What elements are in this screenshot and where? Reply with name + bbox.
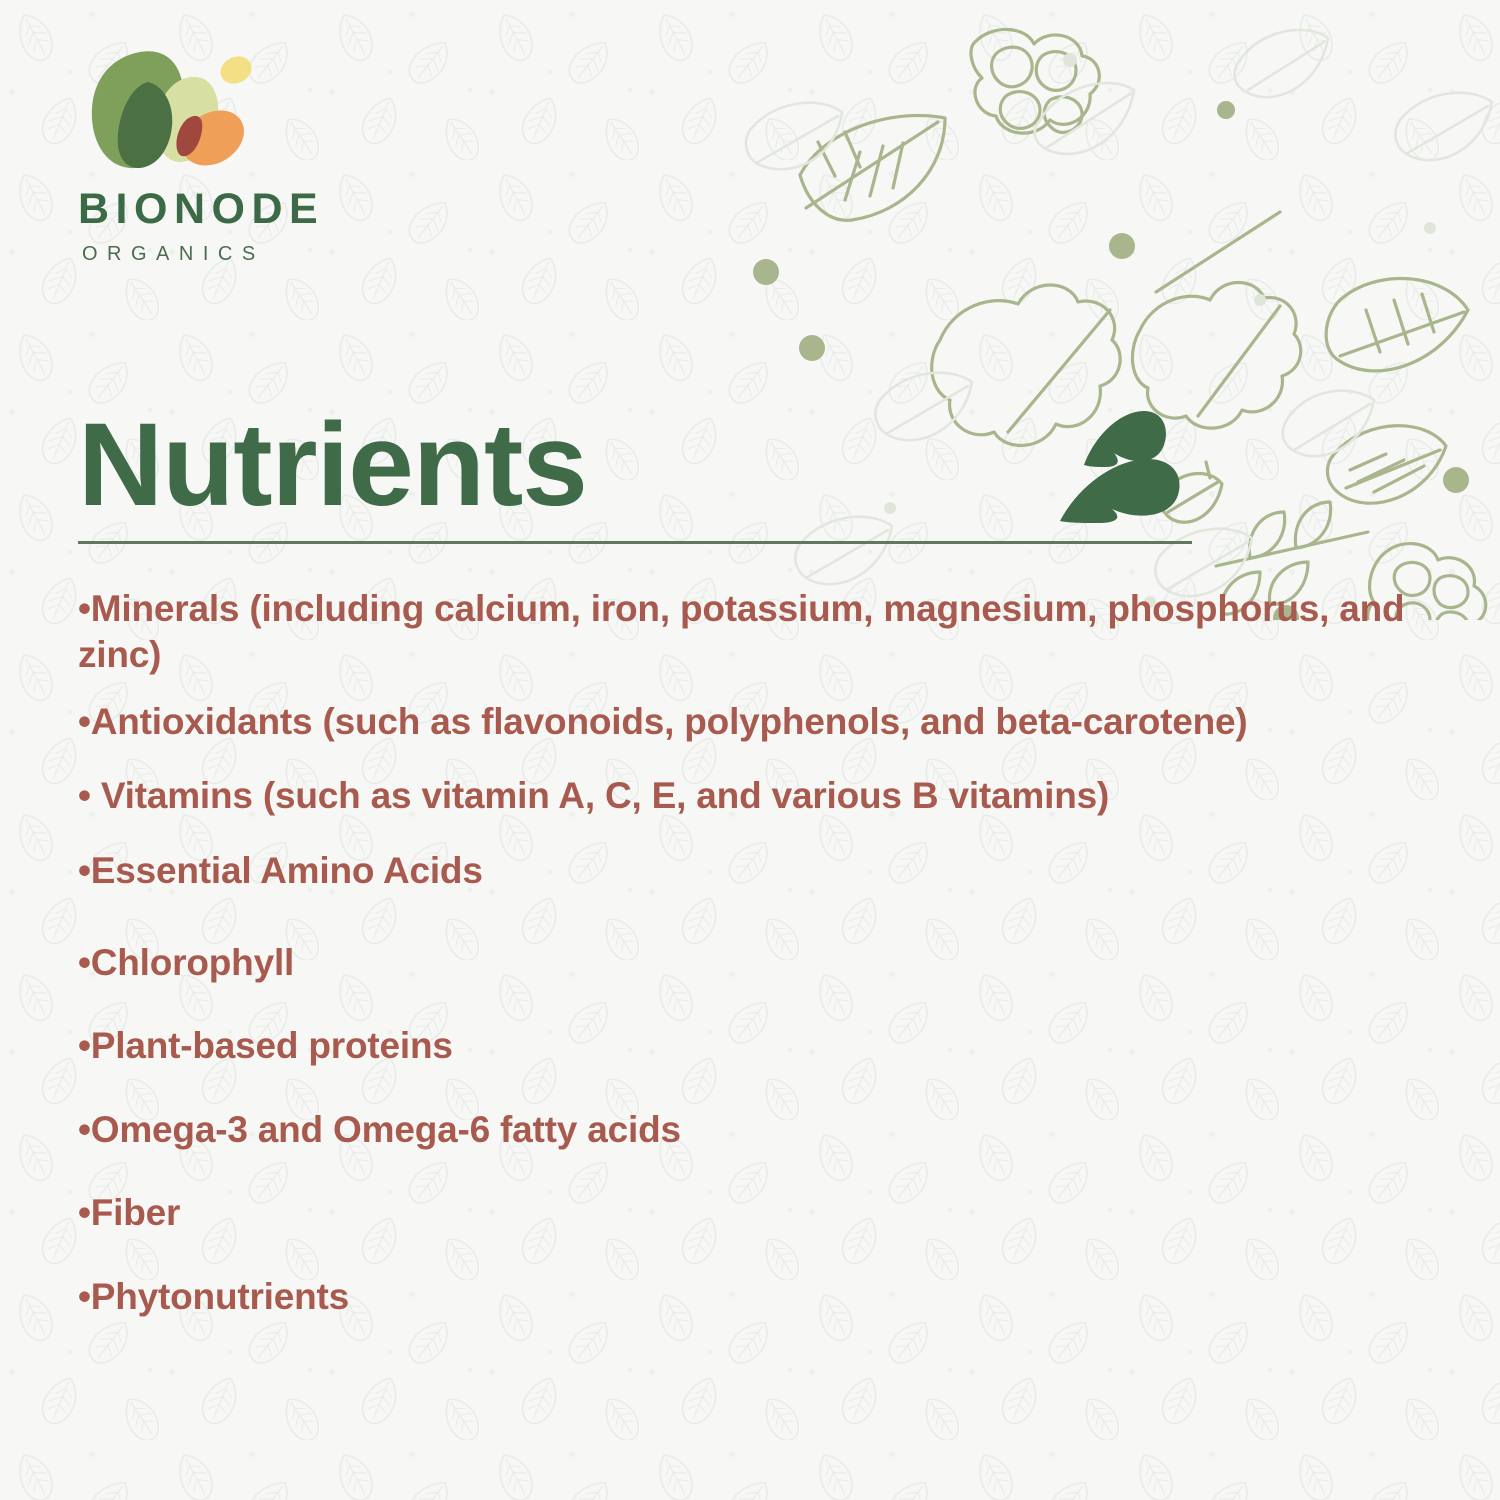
list-item-label: Plant-based proteins	[91, 1025, 453, 1066]
heading-row: Nutrients	[78, 400, 1192, 530]
bullet-glyph: •	[78, 701, 91, 742]
bullet-glyph: •	[78, 942, 91, 983]
bullet-glyph: •	[78, 588, 91, 629]
list-item-label: Minerals (including calcium, iron, potas…	[78, 588, 1404, 675]
bullet-glyph: •	[78, 1025, 91, 1066]
bullet-glyph: •	[78, 1109, 91, 1150]
list-item: •Minerals (including calcium, iron, pota…	[78, 586, 1478, 677]
title-divider	[78, 541, 1192, 544]
list-item-label: Chlorophyll	[91, 942, 294, 983]
brand-name: BIONODE	[78, 188, 324, 231]
bullet-glyph: •	[78, 1276, 91, 1317]
list-item-label: Fiber	[91, 1192, 180, 1233]
list-item-label: Essential Amino Acids	[91, 850, 483, 891]
brand-logo[interactable]: BIONODE ORGANICS	[78, 42, 324, 264]
page-title: Nutrients	[78, 406, 587, 524]
bullet-glyph: •	[78, 1192, 91, 1233]
bullet-glyph: •	[78, 775, 91, 816]
list-item: •Chlorophyll	[78, 940, 1478, 986]
list-item: •Antioxidants (such as flavonoids, polyp…	[78, 699, 1478, 745]
list-item: •Plant-based proteins	[78, 1023, 1478, 1069]
list-item: • Vitamins (such as vitamin A, C, E, and…	[78, 773, 1478, 819]
list-item-label: Antioxidants (such as flavonoids, polyph…	[91, 701, 1248, 742]
brand-tagline: ORGANICS	[82, 244, 324, 264]
list-item-label: Phytonutrients	[91, 1276, 349, 1317]
two-leaves-icon	[1056, 405, 1186, 525]
nutrient-list: •Minerals (including calcium, iron, pota…	[78, 586, 1478, 1319]
list-item: •Omega-3 and Omega-6 fatty acids	[78, 1107, 1478, 1153]
poster-canvas: BIONODE ORGANICS Nutrients •Minerals (in…	[0, 0, 1500, 1500]
bullet-glyph: •	[78, 850, 91, 891]
list-item: •Essential Amino Acids	[78, 848, 1478, 894]
list-item-label: Omega-3 and Omega-6 fatty acids	[91, 1109, 681, 1150]
organic-shapes-logo-icon	[78, 42, 258, 182]
list-item: •Phytonutrients	[78, 1274, 1478, 1320]
list-item: •Fiber	[78, 1190, 1478, 1236]
list-item-label: Vitamins (such as vitamin A, C, E, and v…	[91, 775, 1109, 816]
